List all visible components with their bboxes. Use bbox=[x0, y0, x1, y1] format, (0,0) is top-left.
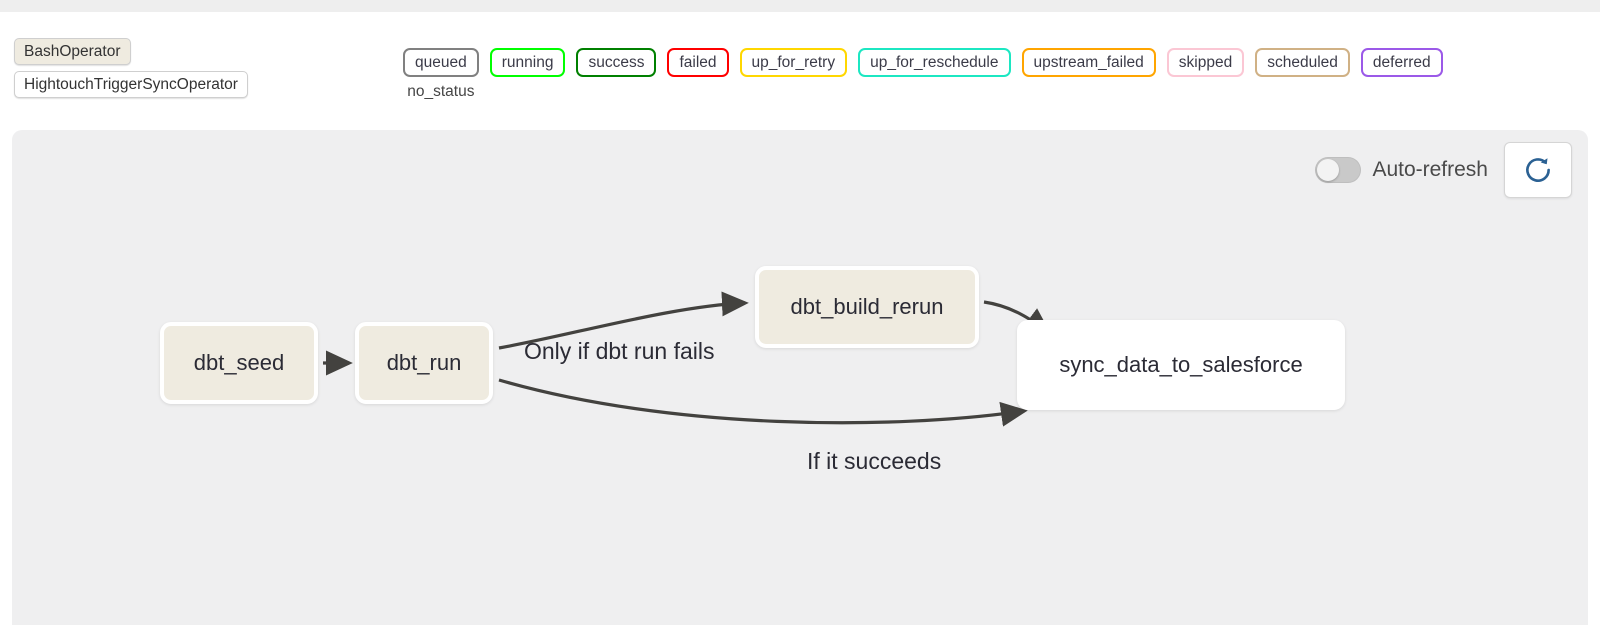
status-legend-item-up-for-reschedule[interactable]: up_for_reschedule bbox=[858, 48, 1010, 77]
status-badge-running[interactable]: running bbox=[490, 48, 566, 77]
status-legend-item-up-for-retry[interactable]: up_for_retry bbox=[740, 48, 848, 77]
status-badge-queued[interactable]: queued bbox=[403, 48, 479, 77]
graph-canvas[interactable]: dbt_seed dbt_run dbt_build_rerun sync_da… bbox=[12, 130, 1588, 625]
status-badge-up-for-reschedule[interactable]: up_for_reschedule bbox=[858, 48, 1010, 77]
top-strip bbox=[0, 0, 1600, 12]
edge-label-if-it-succeeds: If it succeeds bbox=[807, 448, 941, 475]
status-legend-item-running[interactable]: running bbox=[490, 48, 566, 77]
status-badge-upstream-failed[interactable]: upstream_failed bbox=[1022, 48, 1156, 77]
status-badge-scheduled[interactable]: scheduled bbox=[1255, 48, 1350, 77]
status-legend-item-queued[interactable]: queued no_status bbox=[403, 48, 479, 101]
graph-node-dbt-run[interactable]: dbt_run bbox=[355, 322, 493, 404]
status-badge-failed[interactable]: failed bbox=[667, 48, 728, 77]
status-badge-up-for-retry[interactable]: up_for_retry bbox=[740, 48, 848, 77]
graph-node-dbt-seed[interactable]: dbt_seed bbox=[160, 322, 318, 404]
graph-node-label: dbt_seed bbox=[194, 350, 285, 376]
status-sublabel-no-status: no_status bbox=[407, 83, 474, 101]
graph-node-sync-data-to-salesforce[interactable]: sync_data_to_salesforce bbox=[1017, 320, 1345, 410]
status-badge-deferred[interactable]: deferred bbox=[1361, 48, 1443, 77]
status-badge-skipped[interactable]: skipped bbox=[1167, 48, 1244, 77]
graph-node-dbt-build-rerun[interactable]: dbt_build_rerun bbox=[755, 266, 979, 348]
status-legend-item-scheduled[interactable]: scheduled bbox=[1255, 48, 1350, 77]
dag-graph-page: BashOperator HightouchTriggerSyncOperato… bbox=[0, 0, 1600, 625]
legend-area: BashOperator HightouchTriggerSyncOperato… bbox=[0, 12, 1600, 125]
graph-panel[interactable]: Auto-refresh bbox=[12, 130, 1588, 625]
status-legend-item-skipped[interactable]: skipped bbox=[1167, 48, 1244, 77]
status-legend-item-deferred[interactable]: deferred bbox=[1361, 48, 1443, 77]
operator-tag-hightouchtriggersyncoperator[interactable]: HightouchTriggerSyncOperator bbox=[14, 71, 248, 98]
edge-label-only-if-dbt-run-fails: Only if dbt run fails bbox=[524, 338, 714, 365]
edge-dbt-run-to-sync bbox=[499, 380, 1024, 423]
operator-legend: BashOperator HightouchTriggerSyncOperato… bbox=[14, 38, 248, 98]
status-badge-success[interactable]: success bbox=[576, 48, 656, 77]
status-legend-item-success[interactable]: success bbox=[576, 48, 656, 77]
graph-node-label: dbt_build_rerun bbox=[791, 294, 944, 320]
graph-node-label: sync_data_to_salesforce bbox=[1059, 352, 1302, 378]
status-legend-item-upstream-failed[interactable]: upstream_failed bbox=[1022, 48, 1156, 77]
operator-tag-bashoperator[interactable]: BashOperator bbox=[14, 38, 131, 65]
status-legend-item-failed[interactable]: failed bbox=[667, 48, 728, 77]
status-legend: queued no_status running success failed … bbox=[403, 48, 1443, 101]
graph-node-label: dbt_run bbox=[387, 350, 462, 376]
